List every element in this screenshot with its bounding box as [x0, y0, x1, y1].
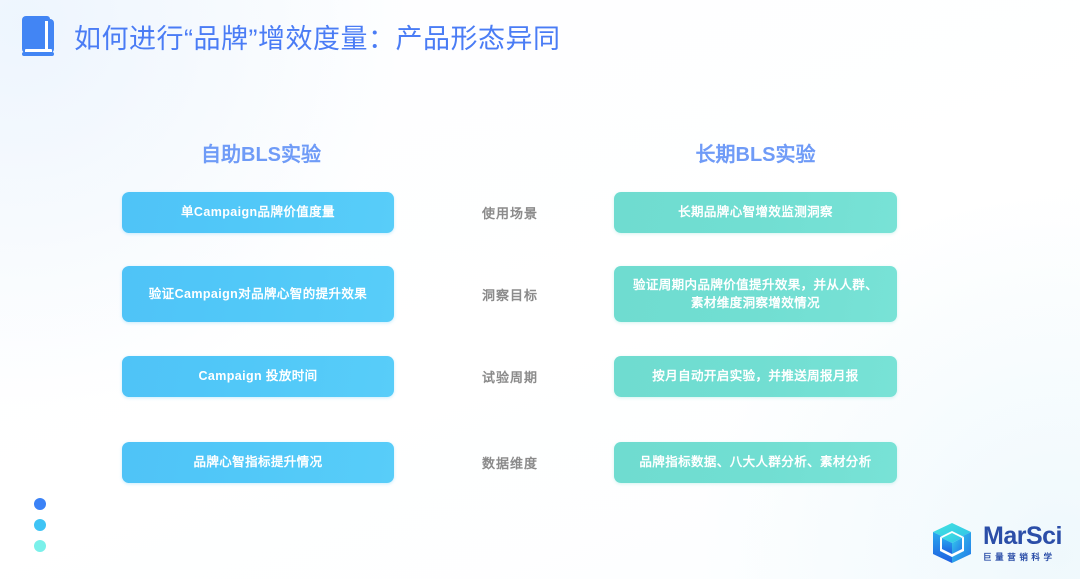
book-icon [22, 16, 56, 56]
row-label: 使用场景 [440, 203, 580, 222]
column-head-right: 长期BLS实验 [614, 138, 897, 167]
logo-text: MarSci 巨量营销科学 [983, 524, 1062, 562]
dot-icon [34, 540, 46, 552]
pill-left[interactable]: 验证Campaign对品牌心智的提升效果 [122, 266, 394, 322]
dot-icon [34, 498, 46, 510]
row-label: 试验周期 [440, 367, 580, 386]
page-title: 如何进行“品牌”增效度量：产品形态异同 [74, 17, 560, 56]
row-label: 洞察目标 [440, 285, 580, 304]
pill-right[interactable]: 品牌指标数据、八大人群分析、素材分析 [614, 442, 897, 483]
dot-icon [34, 519, 46, 531]
pill-right[interactable]: 按月自动开启实验，并推送周报月报 [614, 356, 897, 397]
pill-left[interactable]: 品牌心智指标提升情况 [122, 442, 394, 483]
brand-logo: MarSci 巨量营销科学 [929, 521, 1062, 565]
pill-right[interactable]: 长期品牌心智增效监测洞察 [614, 192, 897, 233]
pill-right[interactable]: 验证周期内品牌价值提升效果，并从人群、素材维度洞察增效情况 [614, 266, 897, 322]
pill-left[interactable]: 单Campaign品牌价值度量 [122, 192, 394, 233]
slide-header: 如何进行“品牌”增效度量：产品形态异同 [22, 16, 560, 56]
row-label: 数据维度 [440, 453, 580, 472]
decorative-dots [34, 498, 46, 552]
column-head-left: 自助BLS实验 [126, 138, 396, 167]
pill-left[interactable]: Campaign 投放时间 [122, 356, 394, 397]
logo-wordmark: MarSci [983, 524, 1062, 549]
logo-subtitle: 巨量营销科学 [983, 553, 1062, 562]
marsci-cube-icon [929, 521, 975, 565]
